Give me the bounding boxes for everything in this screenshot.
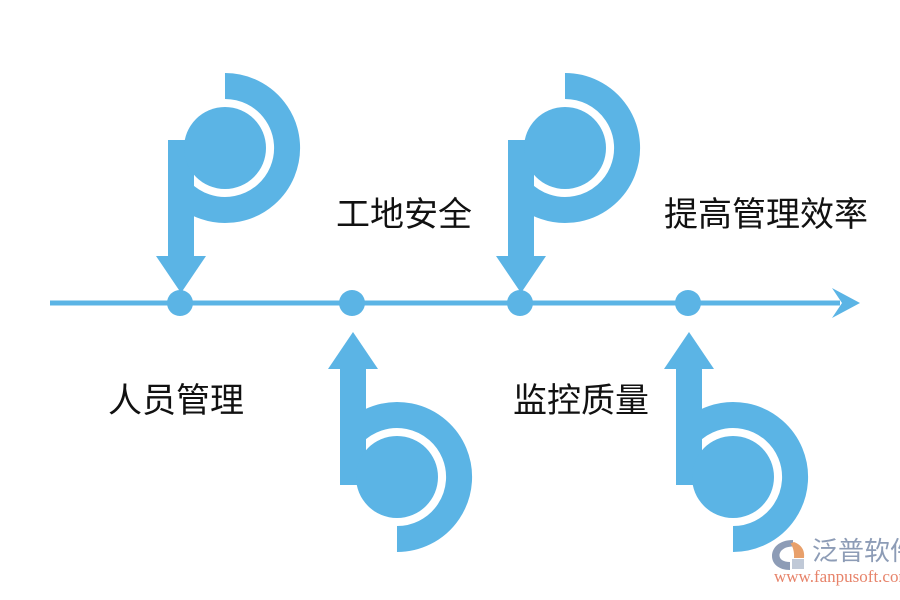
node-marker-2-b-arrow-up-icon (328, 332, 459, 539)
node-label-4: 提高管理效率 (664, 198, 868, 232)
node-marker-1-p-arrow-down-icon (156, 86, 287, 293)
timeline-dot-4[interactable] (675, 290, 701, 316)
timeline-diagram (0, 0, 900, 600)
node-label-1: 人员管理 (108, 384, 244, 418)
timeline-dot-3[interactable] (507, 290, 533, 316)
node-marker-3-p-arrow-down-icon (496, 86, 627, 293)
node-label-2: 工地安全 (336, 198, 472, 232)
watermark: 泛普软件 www.fanpusoft.com (770, 536, 892, 590)
timeline-dot-2[interactable] (339, 290, 365, 316)
watermark-url: www.fanpusoft.com (774, 567, 900, 587)
watermark-brand-name: 泛普软件 (812, 536, 900, 566)
timeline-dot-1[interactable] (167, 290, 193, 316)
node-marker-4-b-arrow-up-icon (664, 332, 795, 539)
node-label-3: 监控质量 (513, 384, 649, 418)
diagram-canvas: 人员管理 工地安全 监控质量 提高管理效率 泛普软件 www.fanpusoft… (0, 0, 900, 600)
